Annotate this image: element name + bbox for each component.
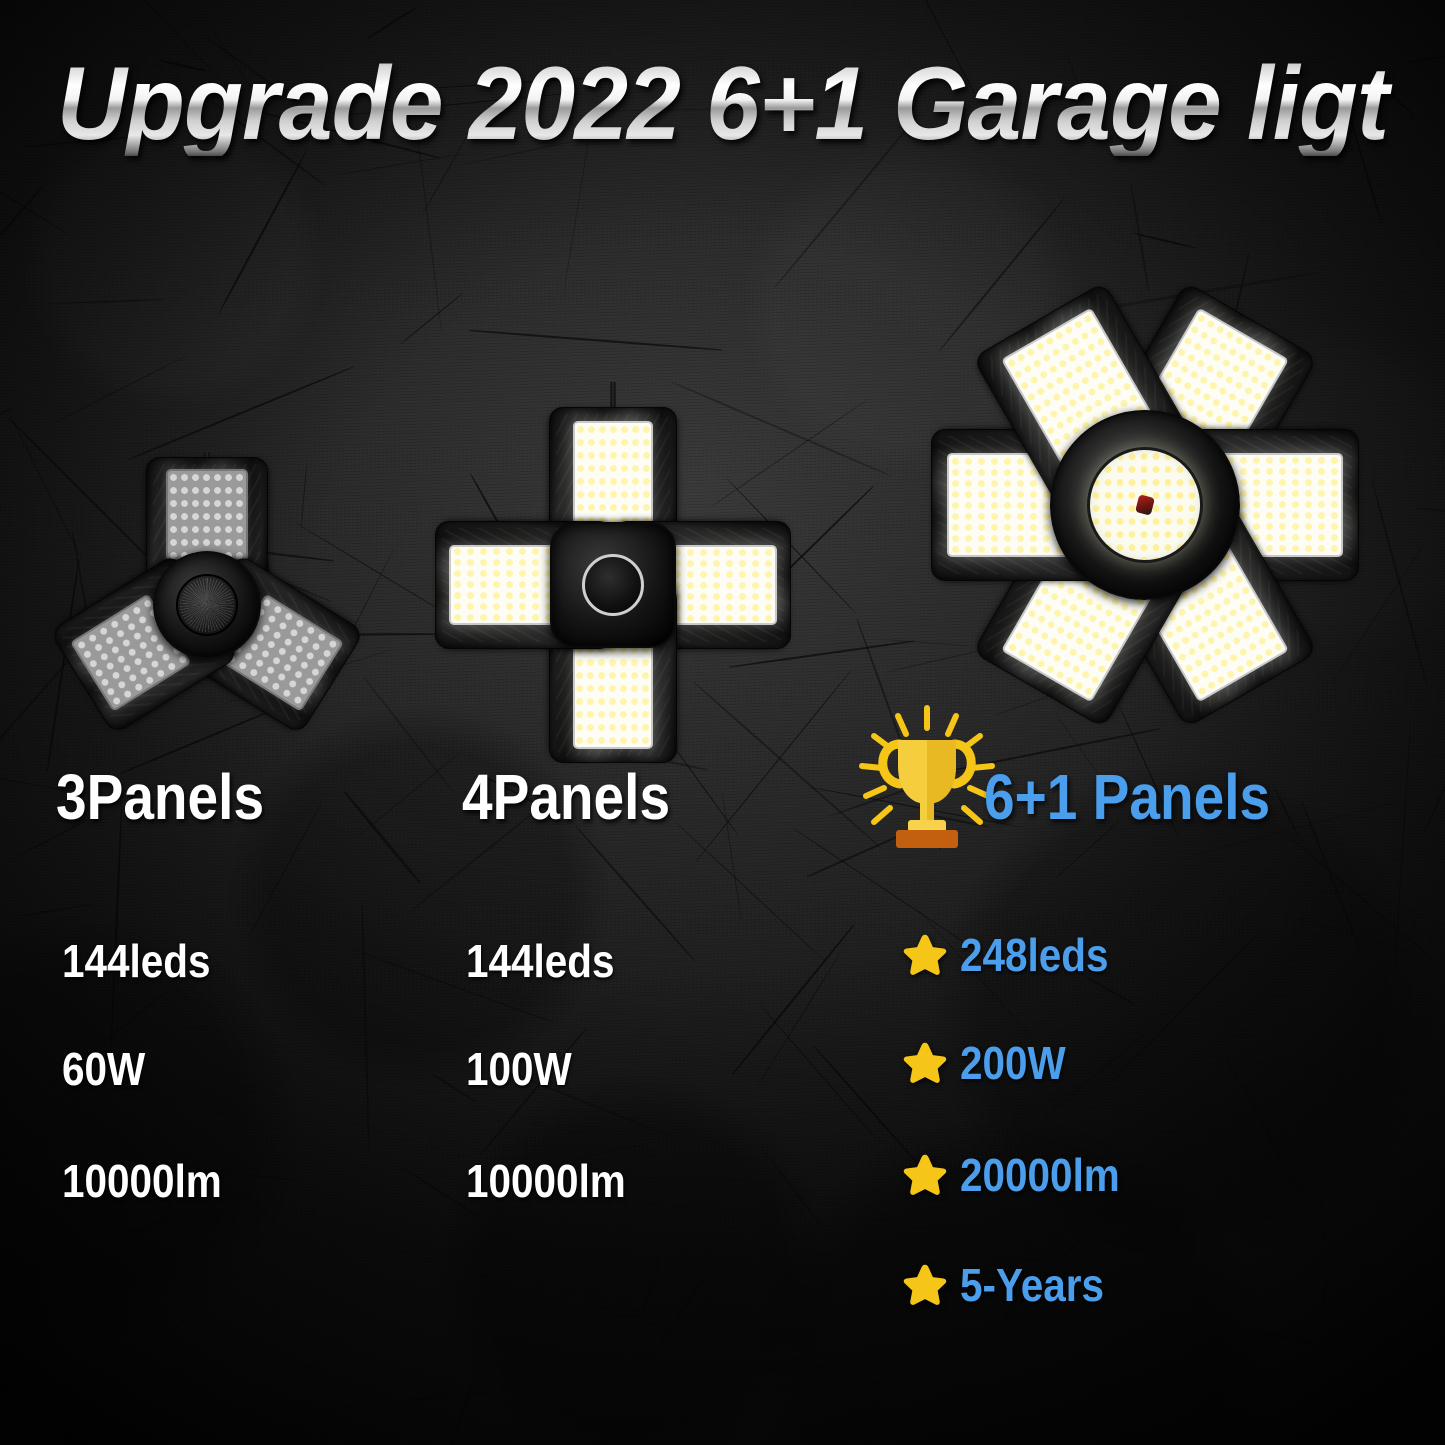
star-icon [902,1153,948,1197]
spec-6plus1-lumen: 20000lm [960,1152,1120,1198]
spec-6plus1-warranty: 5-Years [960,1262,1104,1308]
star-icon [902,1263,948,1307]
product-image-four-panel-garage-light [438,410,788,760]
trophy-icon [852,700,1002,850]
spec-row-6plus1-lumen: 20000lm [902,1152,1142,1198]
spec-3panels-leds: 144leds [62,938,211,984]
infographic-canvas: Upgrade 2022 6+1 Garage ligt [0,0,1445,1445]
product-image-three-panel-garage-light [72,470,342,740]
product-image-six-plus-one-panel-garage-light [925,285,1365,725]
spec-row-6plus1-leds: 248leds [902,932,1129,978]
spec-4panels-watt: 100W [466,1046,572,1092]
spec-row-6plus1-warranty: 5-Years [902,1262,1124,1308]
spec-3panels-lumen: 10000lm [62,1158,222,1204]
spec-4panels-lumen: 10000lm [466,1158,626,1204]
star-icon [902,933,948,977]
category-label-3panels: 3Panels [56,765,264,829]
spec-4panels-leds: 144leds [466,938,615,984]
spec-3panels-watt: 60W [62,1046,145,1092]
spec-6plus1-watt: 200W [960,1040,1066,1086]
page-title: Upgrade 2022 6+1 Garage ligt [51,52,1395,156]
spec-6plus1-leds: 248leds [960,932,1109,978]
star-icon [902,1041,948,1085]
category-label-4panels: 4Panels [462,765,670,829]
category-label-6plus1panels: 6+1 Panels [984,765,1270,829]
spec-row-6plus1-watt: 200W [902,1040,1080,1086]
